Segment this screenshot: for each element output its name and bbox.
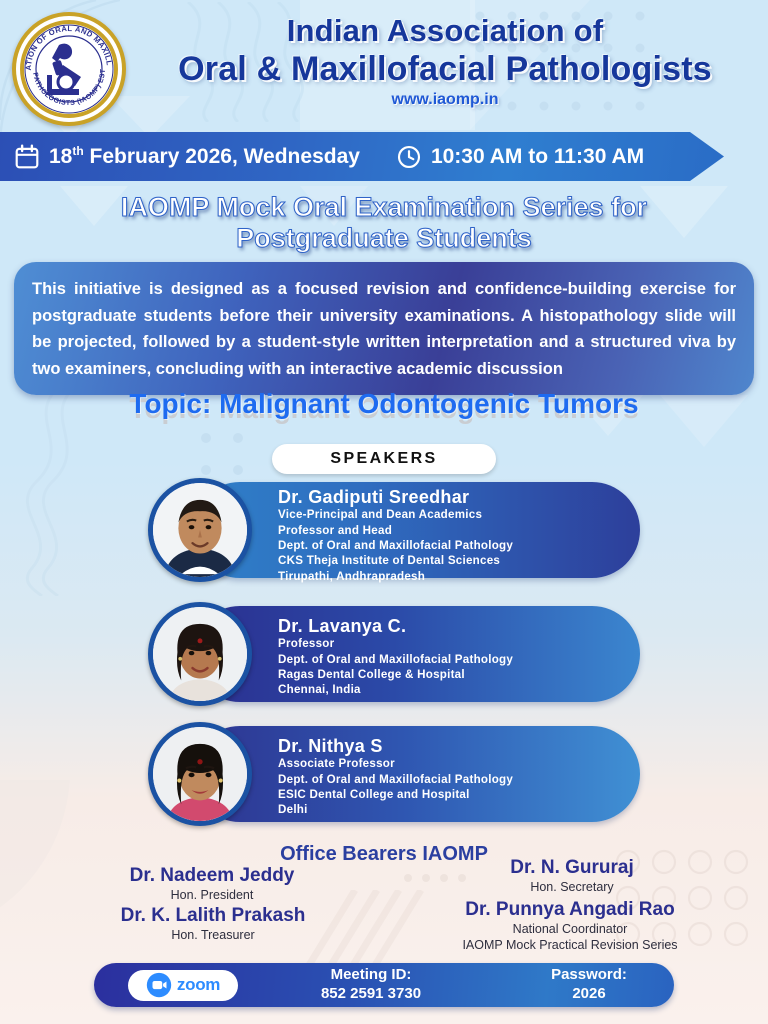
speaker-detail: Associate Professor: [278, 756, 628, 771]
speaker-photo-3: [153, 727, 247, 821]
office-bearer-role: Hon. President: [52, 887, 372, 903]
speaker-name: Dr. Nithya S: [278, 736, 628, 756]
password-label: Password:: [504, 966, 674, 985]
speaker-detail: Vice-Principal and Dean Academics: [278, 507, 628, 522]
speaker-name: Dr. Gadiputi Sreedhar: [278, 487, 628, 507]
website-url[interactable]: www.iaomp.in: [130, 91, 760, 109]
speaker-detail: CKS Theja Institute of Dental Sciences: [278, 553, 628, 568]
office-bearer-name: Dr. K. Lalith Prakash: [48, 906, 378, 927]
zoom-brand-text: zoom: [177, 975, 220, 995]
speaker-detail: Professor and Head: [278, 523, 628, 538]
speaker-name: Dr. Lavanya C.: [278, 616, 628, 636]
meeting-id-value[interactable]: 852 2591 3730: [238, 985, 504, 1004]
speaker-detail: Dept. of Oral and Maxillofacial Patholog…: [278, 772, 628, 787]
time-segment: 10:30 AM to 11:30 AM: [396, 144, 644, 170]
speakers-heading: SPEAKERS: [272, 444, 496, 474]
office-bearer: Dr. Nadeem Jeddy Hon. President: [52, 866, 372, 903]
header-title-block: Indian Association of Oral & Maxillofaci…: [130, 14, 760, 109]
office-bearer-role: National Coordinator: [400, 921, 740, 937]
iaomp-seal-icon: ASSOCIATION OF ORAL AND MAXILLOFACIAL IN…: [19, 19, 119, 119]
speaker-card: Dr. Nithya S Associate Professor Dept. o…: [148, 722, 640, 826]
event-title: IAOMP Mock Oral Examination Series for P…: [0, 192, 768, 254]
topic-block: Topic: Malignant Odontogenic Tumors Topi…: [0, 388, 768, 428]
speaker-detail: Professor: [278, 636, 628, 651]
office-bearer-name: Dr. Nadeem Jeddy: [52, 866, 372, 887]
speaker-avatar: [148, 722, 252, 826]
zoom-camera-icon: [146, 972, 172, 998]
speaker-avatar: [148, 478, 252, 582]
zoom-meeting-bar[interactable]: zoom Meeting ID: 852 2591 3730 Password:…: [94, 963, 674, 1007]
speaker-photo-2: [153, 607, 247, 701]
speaker-detail: Dept. of Oral and Maxillofacial Patholog…: [278, 538, 628, 553]
event-title-line-1: IAOMP Mock Oral Examination Series for: [0, 192, 768, 223]
speaker-detail: Tirupathi, Andhrapradesh: [278, 569, 628, 584]
time-text: 10:30 AM to 11:30 AM: [431, 145, 644, 169]
office-bearer-role: Hon. Secretary: [412, 879, 732, 895]
speaker-detail: ESIC Dental College and Hospital: [278, 787, 628, 802]
zoom-logo[interactable]: zoom: [128, 970, 238, 1001]
office-bearer-role: Hon. Treasurer: [48, 927, 378, 943]
title-line-1: Indian Association of: [130, 14, 760, 47]
password-value[interactable]: 2026: [504, 985, 674, 1004]
date-text: 18th February 2026, Wednesday: [49, 144, 360, 169]
speaker-text-block: Dr. Nithya S Associate Professor Dept. o…: [278, 736, 628, 818]
speaker-text-block: Dr. Gadiputi Sreedhar Vice-Principal and…: [278, 487, 628, 584]
date-segment: 18th February 2026, Wednesday: [14, 144, 360, 170]
office-bearer-name: Dr. N. Gururaj: [412, 858, 732, 879]
meeting-id-block: Meeting ID: 852 2591 3730: [238, 966, 504, 1004]
clock-icon: [396, 144, 422, 170]
iaomp-logo: ASSOCIATION OF ORAL AND MAXILLOFACIAL IN…: [12, 12, 126, 126]
office-bearer-role-secondary: IAOMP Mock Practical Revision Series: [400, 937, 740, 953]
office-bearer: Dr. K. Lalith Prakash Hon. Treasurer: [48, 906, 378, 943]
office-bearer: Dr. N. Gururaj Hon. Secretary: [412, 858, 732, 895]
speaker-card: Dr. Lavanya C. Professor Dept. of Oral a…: [148, 602, 640, 706]
title-line-2: Oral & Maxillofacial Pathologists: [130, 51, 760, 88]
calendar-icon: [14, 144, 40, 170]
topic-text: Topic: Malignant Odontogenic Tumors: [0, 388, 768, 420]
speaker-detail: Delhi: [278, 802, 628, 817]
speaker-detail: Ragas Dental College & Hospital: [278, 667, 628, 682]
speaker-card: Dr. Gadiputi Sreedhar Vice-Principal and…: [148, 478, 640, 582]
event-title-line-2: Postgraduate Students: [0, 223, 768, 254]
speaker-avatar: [148, 602, 252, 706]
poster-canvas: ASSOCIATION OF ORAL AND MAXILLOFACIAL IN…: [0, 0, 768, 1024]
date-time-banner: 18th February 2026, Wednesday 10:30 AM t…: [0, 132, 724, 181]
office-bearer: Dr. Punnya Angadi Rao National Coordinat…: [400, 900, 740, 953]
speaker-detail: Dept. of Oral and Maxillofacial Patholog…: [278, 652, 628, 667]
password-block: Password: 2026: [504, 966, 674, 1004]
speaker-photo-1: [153, 483, 247, 577]
speaker-text-block: Dr. Lavanya C. Professor Dept. of Oral a…: [278, 616, 628, 698]
poster-header: ASSOCIATION OF ORAL AND MAXILLOFACIAL IN…: [0, 0, 768, 128]
speaker-detail: Chennai, India: [278, 682, 628, 697]
office-bearer-name: Dr. Punnya Angadi Rao: [400, 900, 740, 921]
meeting-id-label: Meeting ID:: [238, 966, 504, 985]
event-description: This initiative is designed as a focused…: [14, 262, 754, 395]
